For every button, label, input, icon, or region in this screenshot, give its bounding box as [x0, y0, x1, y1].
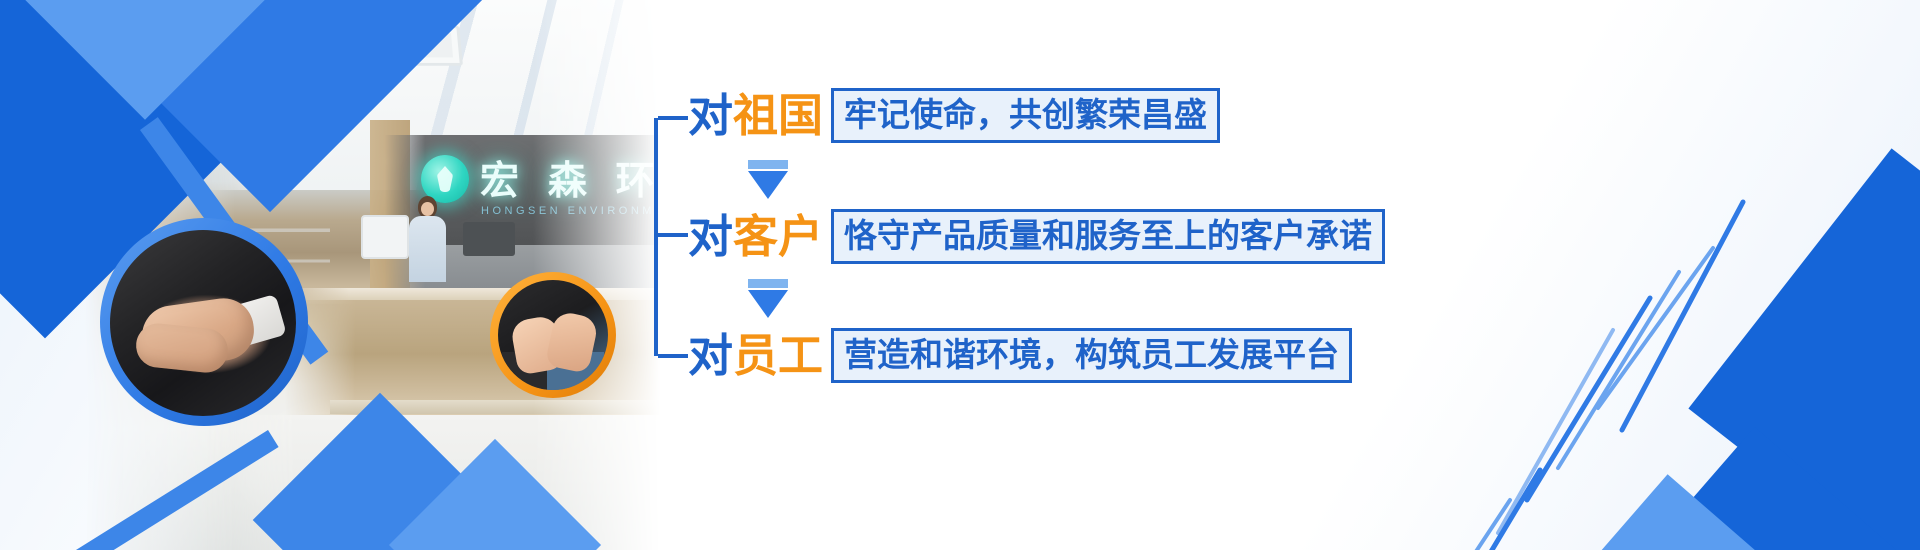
slogan-row-3: 对员工 营造和谐环境，构筑员工发展平台 — [688, 328, 1352, 383]
slogan-text-block: 对祖国 牢记使命，共创繁荣昌盛 对客户 恪守产品质量和服务至上的客户承诺 对员工… — [640, 0, 1420, 550]
slogan-box-1: 牢记使命，共创繁荣昌盛 — [831, 88, 1220, 143]
receptionist-face — [421, 202, 434, 216]
down-arrow-triangle — [748, 171, 788, 199]
bracket-tick-1 — [658, 116, 688, 120]
bracket-tick-3 — [658, 354, 688, 358]
slogan-prefix-2: 对 — [688, 210, 733, 263]
bracket-tick-2 — [658, 233, 688, 237]
decor-line-5 — [1498, 330, 1613, 533]
slogan-prefix-1: 对 — [688, 89, 733, 142]
decor-line-6 — [1468, 470, 1540, 550]
company-logo-subtext: HONGSEN ENVIRONMENTAL PROTECTION — [481, 205, 660, 217]
slogan-row-2: 对客户 恪守产品质量和服务至上的客户承诺 — [688, 209, 1385, 264]
monitor-icon — [463, 222, 515, 256]
slogan-heading-2: 对客户 — [688, 214, 823, 259]
slogan-prefix-3: 对 — [688, 329, 733, 382]
receptionist-figure — [407, 196, 447, 291]
decor-line-2 — [1598, 248, 1713, 408]
decor-line-7 — [1444, 500, 1510, 550]
handshake-circle-photo — [110, 230, 296, 416]
down-arrow-triangle — [748, 290, 788, 318]
monitor-icon — [361, 215, 409, 259]
slogan-row-1: 对祖国 牢记使命，共创繁荣昌盛 — [688, 88, 1220, 143]
company-logo-text: 宏 森 环 保 — [480, 150, 660, 206]
bracket-connector — [654, 118, 688, 356]
slogan-box-3: 营造和谐环境，构筑员工发展平台 — [831, 328, 1352, 383]
down-arrow-cap — [748, 279, 788, 288]
slogan-target-3: 员工 — [733, 329, 823, 382]
slogan-target-2: 客户 — [733, 210, 823, 263]
decor-line-4 — [1527, 298, 1650, 500]
decor-line-3 — [1558, 272, 1679, 468]
down-arrow-1 — [748, 160, 788, 199]
company-culture-banner: 宏 森 环 保 HONGSEN ENVIRONMENTAL PROTECTION — [0, 0, 1920, 550]
applause-circle-photo — [498, 280, 608, 390]
slogan-heading-1: 对祖国 — [688, 93, 823, 138]
slogan-box-2: 恪守产品质量和服务至上的客户承诺 — [831, 209, 1385, 264]
slogan-target-1: 祖国 — [733, 89, 823, 142]
slogan-heading-3: 对员工 — [688, 333, 823, 378]
down-arrow-cap — [748, 160, 788, 169]
receptionist-body — [409, 216, 446, 282]
down-arrow-2 — [748, 279, 788, 318]
